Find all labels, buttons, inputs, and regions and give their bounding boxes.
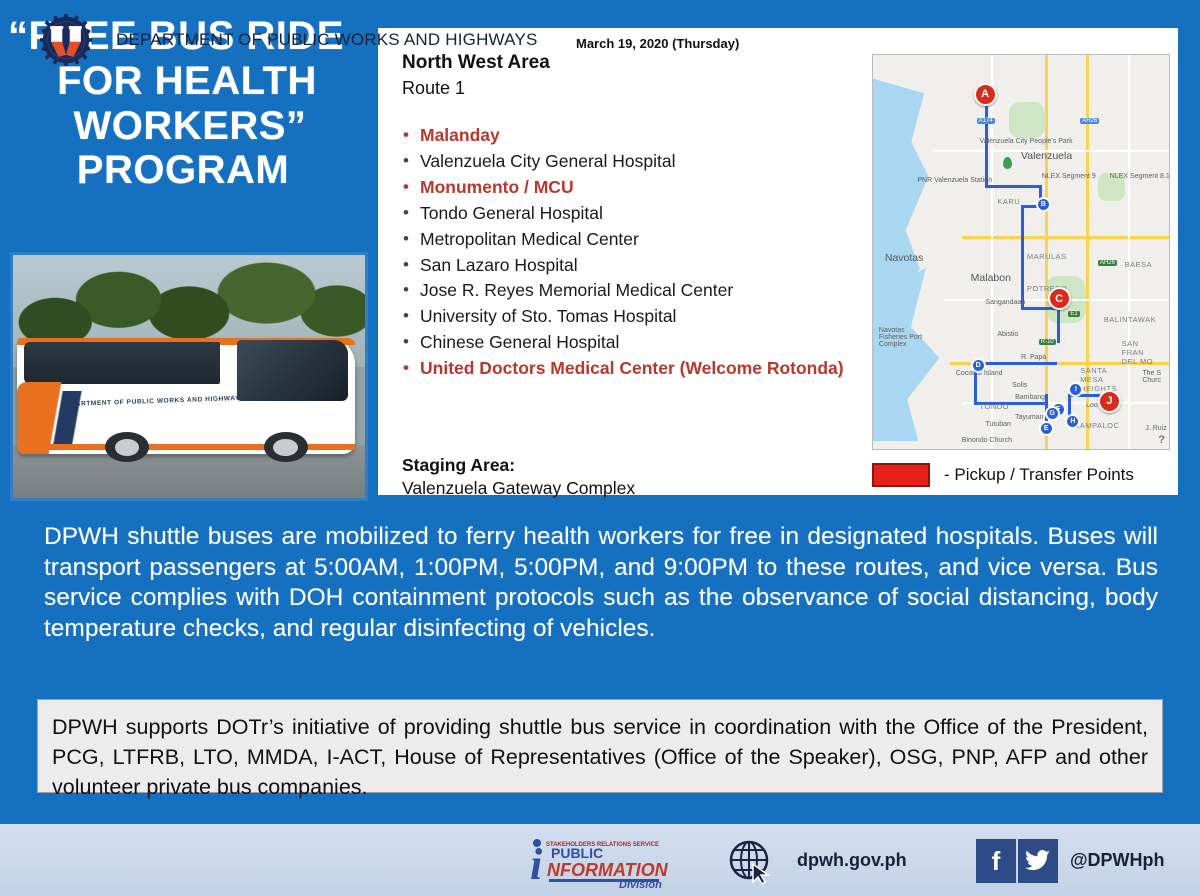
legend-color-swatch [872, 463, 930, 487]
map-shield-5: AH26 [1098, 260, 1117, 266]
map-label-navotas: Navotas [885, 252, 924, 264]
map-label-tayuman: Tayuman [1015, 414, 1043, 421]
route-stop-item: United Doctors Medical Center (Welcome R… [396, 356, 856, 381]
staging-area-value: Valenzuela Gateway Complex [402, 478, 635, 499]
agency-name-label: DEPARTMENT OF PUBLIC WORKS AND HIGHWAYS [116, 30, 538, 50]
map-label-santa-mesa: SANTA MESA HEIGHTS [1080, 366, 1126, 393]
map-label-abistio: Abistio [997, 331, 1018, 338]
twitter-bird-glyph [1025, 850, 1051, 872]
bus-photo: DEPARTMENT OF PUBLIC WORKS AND HIGHWAYS [10, 252, 368, 501]
map-label-valenzuela: Valenzuela [1021, 150, 1072, 162]
public-information-division-logo: STAKEHOLDERS RELATIONS SERVICE i PUBLIC … [527, 836, 687, 888]
map-road-2 [991, 55, 993, 449]
route-stop-item: Chinese General Hospital [396, 330, 856, 355]
bus-side-windows [24, 342, 220, 384]
map-shield-2: AH26 [1080, 118, 1099, 124]
map-shield-3: E1 [1068, 311, 1079, 317]
facebook-glyph: f [992, 848, 1001, 874]
route-stop-list: MalandayValenzuela City General Hospital… [396, 123, 856, 382]
dpwh-seal-logo [38, 14, 94, 66]
map-label-loo: Loo [1086, 402, 1098, 409]
support-statement-text: DPWH supports DOTr’s initiative of provi… [52, 712, 1148, 802]
legend-label: - Pickup / Transfer Points [944, 465, 1134, 485]
map-shield-1: A174 [977, 118, 995, 124]
route-stop-item: San Lazaro Hospital [396, 253, 856, 278]
pis-line-information: NFORMATION [547, 860, 669, 880]
map-shield-4: R-10 [1039, 339, 1056, 345]
map-label-san-fran: SAN FRAN DEL MO [1122, 339, 1162, 366]
page-title-line-3: WORKERS” [0, 104, 360, 149]
website-label[interactable]: dpwh.gov.ph [797, 850, 907, 871]
route-label: Route 1 [402, 78, 465, 99]
map-label-pnr-station: PNR Valenzuela Station [917, 177, 992, 184]
map-route-seg-8 [974, 362, 1057, 365]
svg-text:i: i [530, 840, 543, 888]
map-label-marulas: MARULAS [1027, 252, 1067, 261]
map-label-r-papa: R. Papa [1021, 354, 1046, 361]
route-stop-item: Tondo General Hospital [396, 201, 856, 226]
route-stop-item: University of Sto. Tomas Hospital [396, 304, 856, 329]
map-pin-j[interactable]: J [1098, 390, 1121, 413]
map-waypoint-h[interactable]: H [1065, 414, 1080, 429]
map-waypoint-g[interactable]: G [1045, 406, 1060, 421]
route-map[interactable]: Valenzuela Valenzuela City People's Park… [872, 54, 1170, 450]
map-label-solis: Solis [1012, 382, 1027, 389]
facebook-icon[interactable]: f [976, 839, 1016, 883]
map-label-karu: KARU [997, 197, 1020, 206]
intro-paragraph: DPWH shuttle buses are mobilized to ferr… [44, 522, 1158, 644]
area-title: North West Area [402, 52, 550, 74]
map-help-icon[interactable]: ? [1158, 434, 1165, 446]
route-stop-item: Metropolitan Medical Center [396, 227, 856, 252]
route-stop-item: Monumento / MCU [396, 175, 856, 200]
bus-wheel-front [264, 432, 308, 462]
map-label-peoples-park: Valenzuela City People's Park [980, 138, 1073, 145]
support-statement-box: DPWH supports DOTr’s initiative of provi… [37, 699, 1163, 793]
map-waypoint-d[interactable]: D [971, 358, 986, 373]
route-stop-item: Jose R. Reyes Memorial Medical Center [396, 278, 856, 303]
bus-wheel-rear [105, 432, 149, 462]
map-label-j-ruiz: J. Ruiz [1145, 425, 1166, 432]
map-route-seg-2 [985, 185, 1038, 188]
map-route-seg-7 [1057, 307, 1060, 342]
map-label-nlex-9: NLEX Segment 9 [1042, 173, 1096, 180]
map-legend: - Pickup / Transfer Points [872, 460, 1168, 490]
date-label: March 19, 2020 (Thursday) [576, 36, 739, 51]
bus-windshield [237, 340, 349, 401]
map-label-tutuban: Tutuban [985, 421, 1010, 428]
staging-area-heading: Staging Area: [402, 455, 515, 476]
pis-line-division: Division [619, 879, 662, 888]
map-label-bambang: Bambang [1015, 394, 1045, 401]
map-label-baesa: BAESA [1125, 260, 1153, 269]
map-label-balintawak: BALINTAWAK [1104, 315, 1156, 324]
map-label-nlex-81: NLEX Segment 8.1 [1110, 173, 1170, 180]
map-label-the-church: The S Churc [1142, 370, 1166, 384]
map-road-3 [1128, 55, 1130, 449]
map-waypoint-b[interactable]: B [1036, 197, 1051, 212]
map-label-malabon: Malabon [971, 272, 1011, 284]
map-label-tondo: TONDO [980, 402, 1009, 411]
bus-vehicle: DEPARTMENT OF PUBLIC WORKS AND HIGHWAYS [17, 338, 355, 455]
route-stop-item: Valenzuela City General Hospital [396, 149, 856, 174]
map-route-seg-5 [1021, 205, 1024, 307]
map-pin-a[interactable]: A [974, 83, 997, 106]
map-label-binondo-church: Binondo Church [962, 437, 1012, 444]
pis-line-public: PUBLIC [551, 845, 603, 861]
map-park-area-1 [1009, 102, 1045, 137]
map-label-fisheries-port: Navotas Fisheries Port Complex [879, 327, 935, 348]
map-route-seg-6 [1021, 307, 1057, 310]
globe-cursor-icon [727, 838, 775, 886]
map-pin-c[interactable]: C [1048, 287, 1071, 310]
route-stop-item: Malanday [396, 123, 856, 148]
route-info-card: March 19, 2020 (Thursday) North West Are… [378, 28, 1178, 495]
twitter-icon[interactable] [1018, 839, 1058, 883]
social-handle-label[interactable]: @DPWHph [1070, 850, 1165, 871]
map-label-sampaloc: SAMPALOC [1074, 421, 1119, 430]
page-title-line-4: PROGRAM [0, 148, 360, 193]
map-label-sangandaan: Sangandaan [985, 299, 1025, 306]
